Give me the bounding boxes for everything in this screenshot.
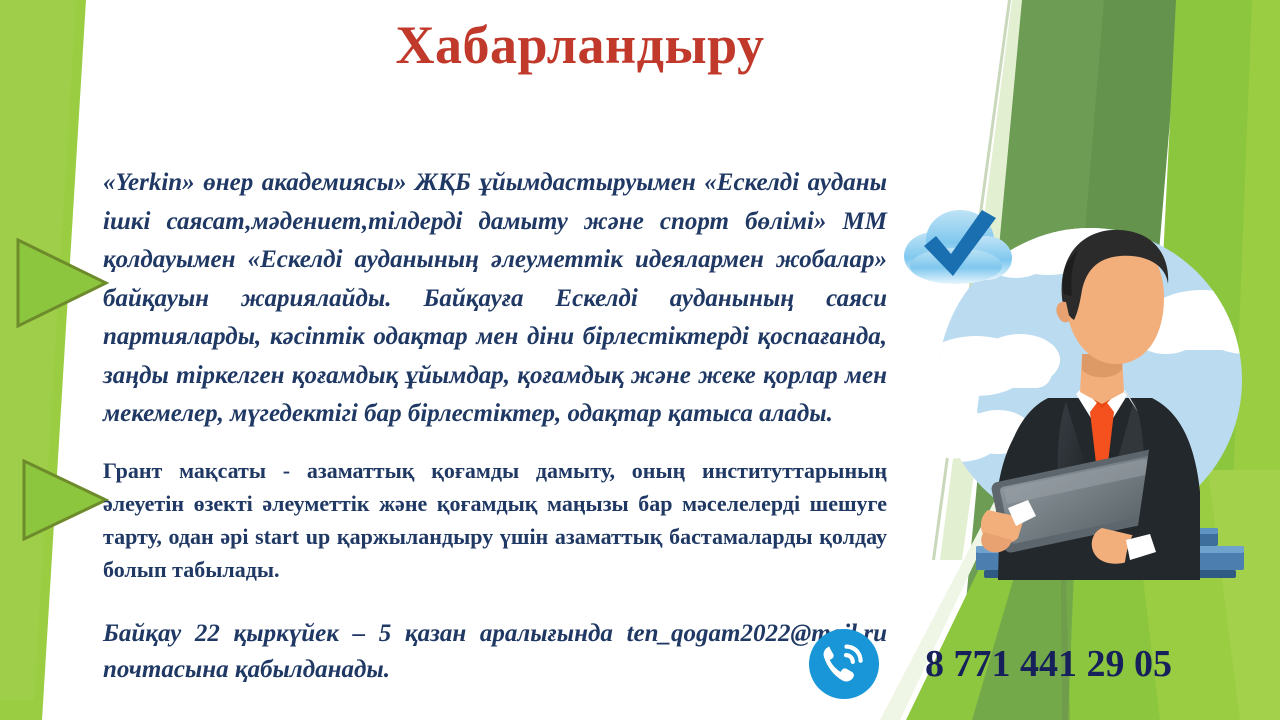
paragraph-deadline-email: Байқау 22 қыркүйек – 5 қазан аралығында … [103, 616, 887, 688]
page-title: Хабарландыру [0, 14, 1160, 76]
paragraph-grant-purpose: Грант мақсаты - азаматтық қоғамды дамыту… [103, 454, 887, 586]
phone-call-icon[interactable] [808, 628, 880, 700]
spacer [103, 434, 887, 454]
phone-icon-container[interactable] [808, 628, 880, 700]
phone-number: 8 771 441 29 05 [925, 643, 1172, 685]
cloud-check-icon [898, 196, 1016, 292]
play-triangle-icon [20, 457, 110, 543]
announcement-slide: Хабарландыру «Yerkin» өнер академиясы» Ж… [0, 0, 1280, 720]
cloud-white-fade [909, 369, 982, 458]
announcement-text: «Yerkin» өнер академиясы» ЖҚБ ұйымдастыр… [103, 164, 887, 688]
paragraph-intro: «Yerkin» өнер академиясы» ЖҚБ ұйымдастыр… [103, 164, 887, 434]
play-triangle-icon [14, 236, 110, 330]
spacer [103, 586, 887, 616]
contact-row: 8 771 441 29 05 [808, 628, 1172, 700]
